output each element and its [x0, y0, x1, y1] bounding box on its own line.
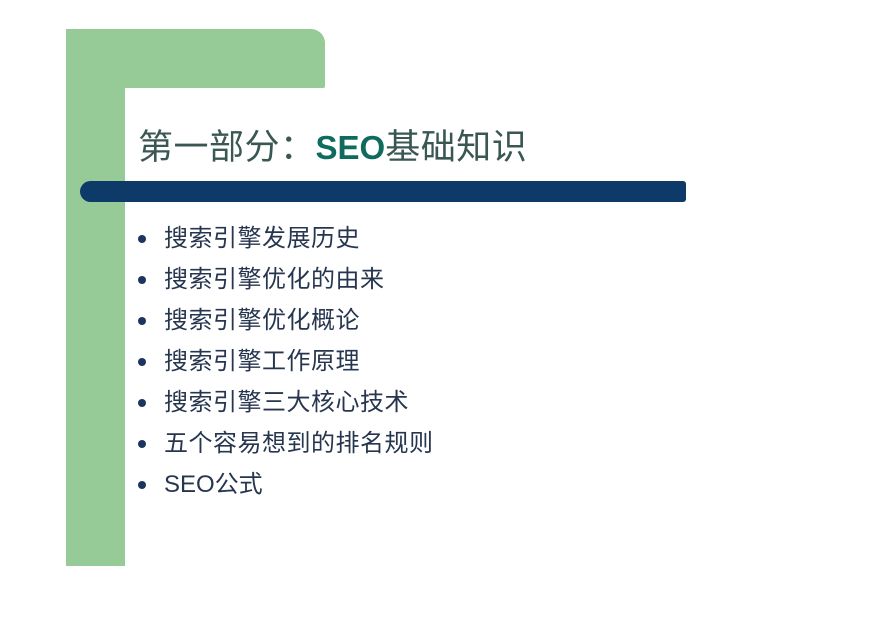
bullet-dot-icon: [138, 235, 146, 243]
bullet-dot-icon: [138, 399, 146, 407]
green-horizontal-bar: [66, 29, 325, 88]
title-prefix: 第一部分：: [138, 128, 316, 167]
list-item: SEO公式: [138, 464, 698, 505]
list-item-label: 搜索引擎优化的由来: [164, 265, 385, 295]
green-inner-corner-notch: [125, 88, 325, 128]
bullet-dot-icon: [138, 358, 146, 366]
list-item-label: 搜索引擎优化概论: [164, 306, 360, 336]
list-item: 搜索引擎工作原理: [138, 341, 698, 382]
blue-divider-rule: [80, 181, 686, 202]
list-item-label: SEO公式: [164, 470, 263, 500]
bullet-dot-icon: [138, 317, 146, 325]
list-item: 搜索引擎优化概论: [138, 300, 698, 341]
agenda-bullet-list: 搜索引擎发展历史 搜索引擎优化的由来 搜索引擎优化概论 搜索引擎工作原理 搜索引…: [138, 218, 698, 505]
presentation-slide: 第一部分：SEO基础知识 搜索引擎发展历史 搜索引擎优化的由来 搜索引擎优化概论…: [0, 0, 872, 631]
list-item: 搜索引擎优化的由来: [138, 259, 698, 300]
list-item-label: 搜索引擎发展历史: [164, 224, 360, 254]
bullet-dot-icon: [138, 440, 146, 448]
bullet-dot-icon: [138, 481, 146, 489]
list-item-label: 搜索引擎三大核心技术: [164, 388, 409, 418]
list-item: 搜索引擎发展历史: [138, 218, 698, 259]
list-item: 五个容易想到的排名规则: [138, 423, 698, 464]
list-item-label: 搜索引擎工作原理: [164, 347, 360, 377]
bullet-dot-icon: [138, 276, 146, 284]
list-item-label: 五个容易想到的排名规则: [164, 429, 434, 459]
slide-title: 第一部分：SEO基础知识: [138, 126, 527, 170]
title-suffix: 基础知识: [385, 128, 527, 167]
title-accent-seo: SEO: [316, 129, 386, 166]
list-item: 搜索引擎三大核心技术: [138, 382, 698, 423]
green-vertical-bar: [66, 29, 125, 566]
